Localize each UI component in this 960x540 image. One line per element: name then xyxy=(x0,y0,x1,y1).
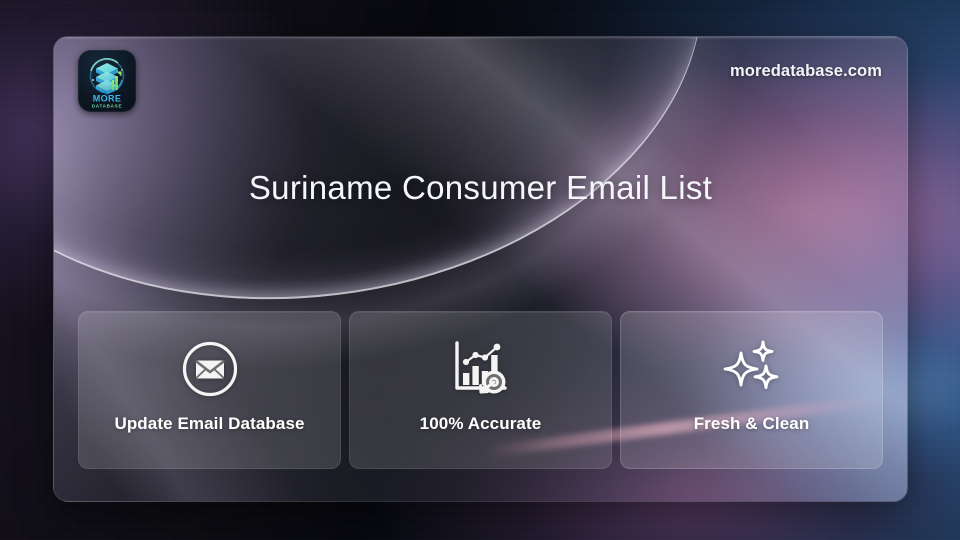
envelope-in-circle-icon xyxy=(180,338,240,400)
feature-card-fresh-and-clean[interactable]: Fresh & Clean xyxy=(620,311,883,469)
page-title: Suriname Consumer Email List xyxy=(54,169,907,207)
more-database-logo-icon: MORE DATABASE xyxy=(78,50,136,112)
feature-card-100-percent-accurate[interactable]: 100% Accurate xyxy=(349,311,612,469)
sparkles-icon xyxy=(721,338,783,400)
feature-card-label: Fresh & Clean xyxy=(694,414,810,434)
feature-card-label: 100% Accurate xyxy=(420,414,542,434)
feature-card-label: Update Email Database xyxy=(114,414,304,434)
svg-text:MORE: MORE xyxy=(93,94,122,104)
feature-cards: Update Email Database xyxy=(78,311,883,469)
feature-card-update-email-database[interactable]: Update Email Database xyxy=(78,311,341,469)
svg-text:DATABASE: DATABASE xyxy=(92,104,122,109)
promo-banner: MORE DATABASE moredatabase.com Suriname … xyxy=(0,0,960,540)
more-database-logo[interactable]: MORE DATABASE xyxy=(78,50,136,112)
glass-panel: MORE DATABASE moredatabase.com Suriname … xyxy=(53,36,908,502)
website-url: moredatabase.com xyxy=(730,62,882,81)
bar-chart-with-target-icon xyxy=(450,338,512,400)
